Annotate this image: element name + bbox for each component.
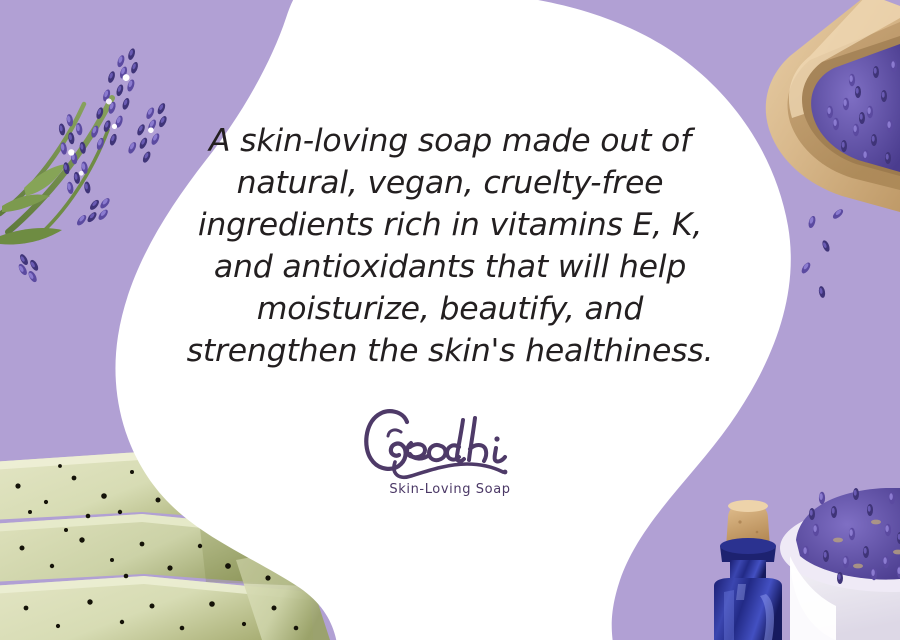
white-blob-card (0, 0, 900, 640)
poster-canvas: A skin-loving soap made out of natural, … (0, 0, 900, 640)
